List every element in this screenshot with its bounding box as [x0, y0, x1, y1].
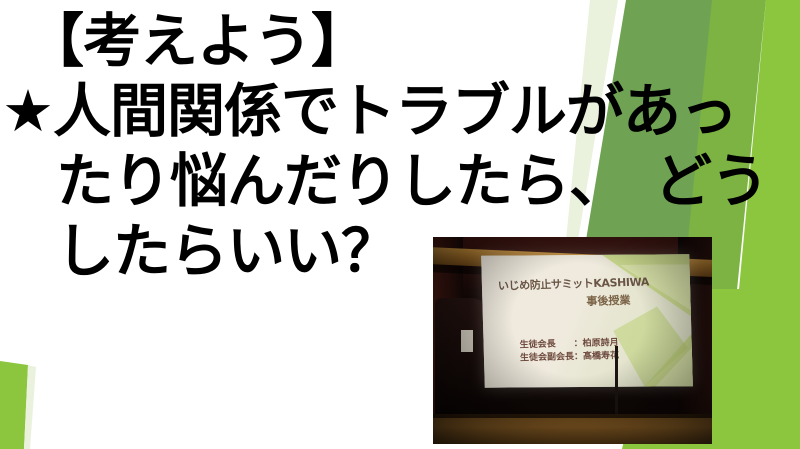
decorative-green-wedge-bottom-left — [0, 359, 120, 449]
deco-shape-bottom-left-wash — [24, 365, 36, 449]
presentation-slide: 【考えよう】 ★人間関係でトラブルがあっ たり悩んだりしたら、 どう したらいい… — [0, 0, 800, 449]
headline-line-2: ★人間関係でトラブルがあっ — [0, 76, 800, 146]
deco-shape-bottom-left-bright — [0, 361, 28, 449]
headline-line-3: たり悩んだりしたら、 どう — [0, 146, 800, 216]
photo-vignette-overlay — [433, 237, 712, 444]
headline-line-1: 【考えよう】 — [0, 6, 800, 76]
stage-photograph: いじめ防止サミットKASHIWA 事後授業 生徒会長 ：柏原詩月 生徒会副会長：… — [433, 237, 712, 444]
